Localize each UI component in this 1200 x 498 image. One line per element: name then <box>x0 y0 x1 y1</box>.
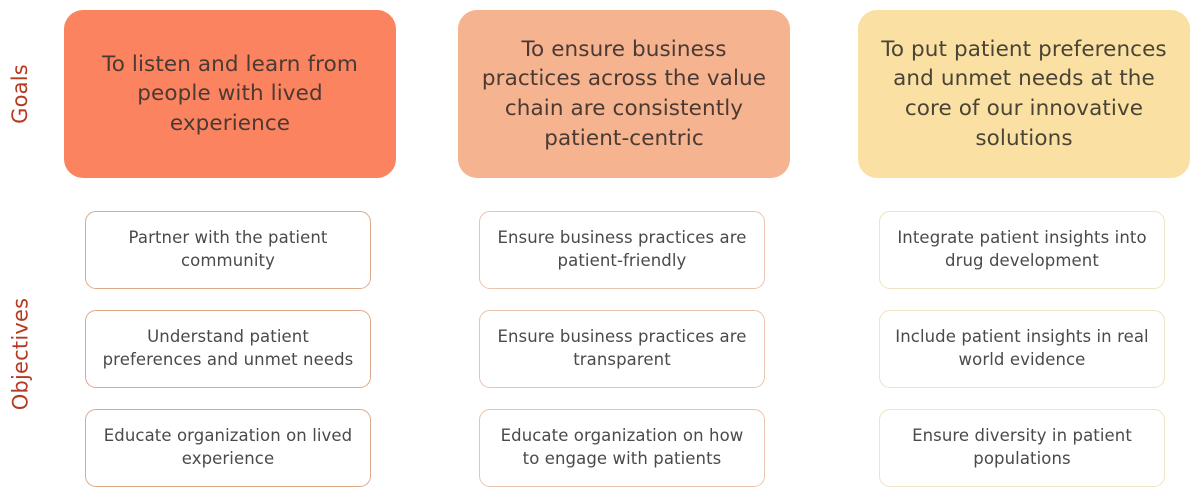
row-label-goals-text: Goals <box>8 64 32 124</box>
objective-card-2-3[interactable]: Educate organization on how to engage wi… <box>479 409 765 487</box>
objective-card-1-1-text: Partner with the patient community <box>96 227 360 273</box>
goal-card-3[interactable]: To put patient preferences and unmet nee… <box>858 10 1190 178</box>
goal-card-2[interactable]: To ensure business practices across the … <box>458 10 790 178</box>
objective-card-1-3[interactable]: Educate organization on lived experience <box>85 409 371 487</box>
objective-card-3-1-text: Integrate patient insights into drug dev… <box>890 227 1154 273</box>
objective-card-3-3[interactable]: Ensure diversity in patient populations <box>879 409 1165 487</box>
objective-card-2-2[interactable]: Ensure business practices are transparen… <box>479 310 765 388</box>
goal-card-2-text: To ensure business practices across the … <box>474 35 774 154</box>
objective-card-1-2[interactable]: Understand patient preferences and unmet… <box>85 310 371 388</box>
objective-card-2-2-text: Ensure business practices are transparen… <box>490 326 754 372</box>
objective-card-3-1[interactable]: Integrate patient insights into drug dev… <box>879 211 1165 289</box>
diagram-column-3: To put patient preferences and unmet nee… <box>858 0 1190 498</box>
objective-card-1-3-text: Educate organization on lived experience <box>96 425 360 471</box>
objective-card-2-1-text: Ensure business practices are patient-fr… <box>490 227 754 273</box>
diagram-column-2: To ensure business practices across the … <box>458 0 790 498</box>
goal-card-1[interactable]: To listen and learn from people with liv… <box>64 10 396 178</box>
objective-card-2-3-text: Educate organization on how to engage wi… <box>490 425 754 471</box>
row-label-objectives: Objectives <box>0 210 40 498</box>
goal-card-1-text: To listen and learn from people with liv… <box>80 50 380 139</box>
objective-card-3-2[interactable]: Include patient insights in real world e… <box>879 310 1165 388</box>
goals-objectives-diagram: Goals Objectives To listen and learn fro… <box>0 0 1200 498</box>
objective-card-2-1[interactable]: Ensure business practices are patient-fr… <box>479 211 765 289</box>
objective-card-1-1[interactable]: Partner with the patient community <box>85 211 371 289</box>
objective-card-1-2-text: Understand patient preferences and unmet… <box>96 326 360 372</box>
row-label-goals: Goals <box>0 10 40 178</box>
objective-card-3-3-text: Ensure diversity in patient populations <box>890 425 1154 471</box>
diagram-column-1: To listen and learn from people with liv… <box>64 0 396 498</box>
objective-card-3-2-text: Include patient insights in real world e… <box>890 326 1154 372</box>
goal-card-3-text: To put patient preferences and unmet nee… <box>874 35 1174 154</box>
row-label-objectives-text: Objectives <box>8 298 32 411</box>
